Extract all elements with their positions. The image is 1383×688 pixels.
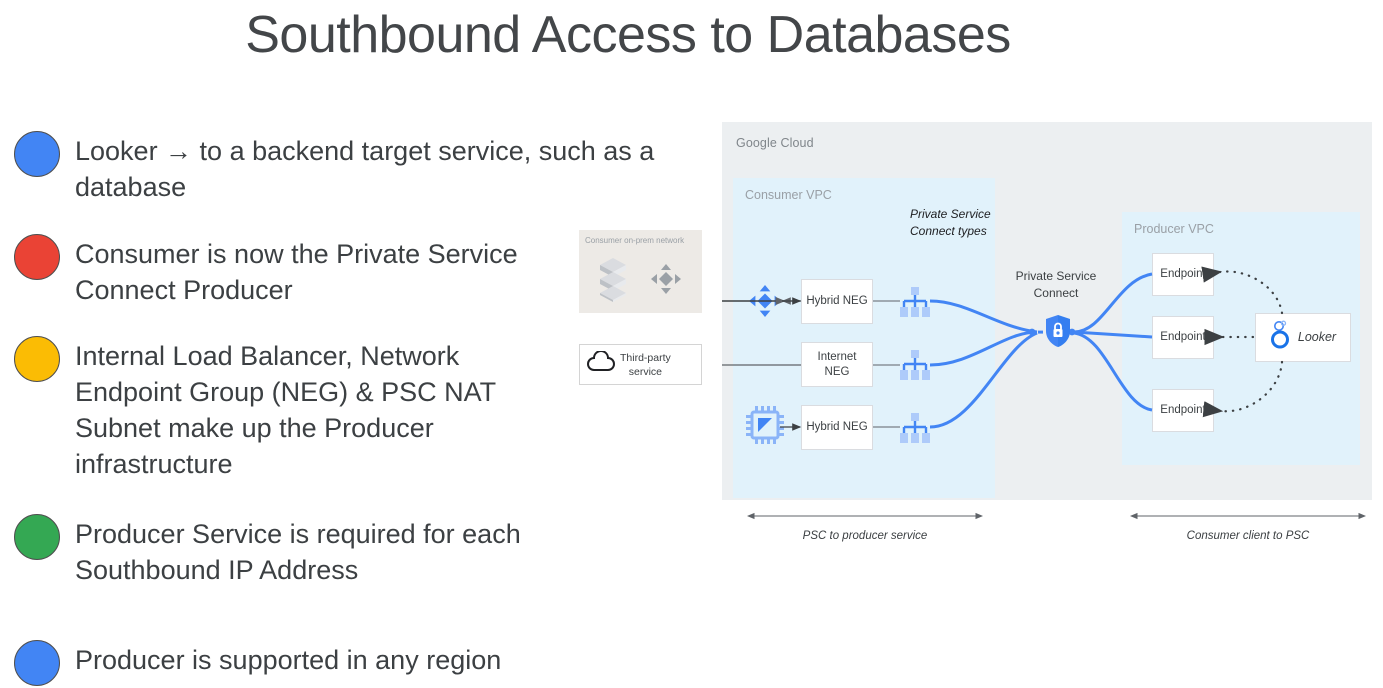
bullet-item-4: Producer is supported in any region xyxy=(14,640,634,686)
endpoint-box-2[interactable]: Endpoint xyxy=(1152,316,1214,359)
vpn-gateway-icon-grey xyxy=(651,264,681,299)
bullet-text-2: Internal Load Balancer, Network Endpoint… xyxy=(75,336,554,482)
bullet-item-1: Consumer is now the Private Service Conn… xyxy=(14,234,614,308)
third-party-service-box: Third-party service xyxy=(579,344,702,385)
psc-center-label: Private Service Connect xyxy=(996,268,1116,302)
endpoint-label-2: Endpoint xyxy=(1160,403,1205,418)
endpoint-label-0: Endpoint xyxy=(1160,267,1205,282)
psc-types-label: Private Service Connect types xyxy=(910,206,991,240)
neg-box-hybrid-2[interactable]: Hybrid NEG xyxy=(801,405,873,450)
bullet-marker-red xyxy=(14,234,60,280)
psc-types-line2: Connect types xyxy=(910,223,991,240)
neg-label-1-line2: NEG xyxy=(825,365,850,380)
range-label-consumer-to-psc: Consumer client to PSC xyxy=(1131,530,1365,542)
third-party-line2: service xyxy=(620,365,671,379)
third-party-line1: Third-party xyxy=(620,351,671,365)
bullet-text-4: Producer is supported in any region xyxy=(75,640,501,678)
endpoint-label-1: Endpoint xyxy=(1160,330,1205,345)
vpn-gateway-icon xyxy=(749,285,781,322)
neg-label-1-line1: Internet xyxy=(818,350,857,365)
chip-icon xyxy=(746,406,784,449)
consumer-onprem-network-label: Consumer on-prem network xyxy=(585,236,684,245)
load-balancer-icon-2 xyxy=(900,350,930,385)
range-label-psc-to-producer: PSC to producer service xyxy=(748,530,982,542)
looker-box[interactable]: Looker xyxy=(1255,313,1351,362)
endpoint-box-1[interactable]: Endpoint xyxy=(1152,253,1214,296)
psc-center-line2: Connect xyxy=(996,285,1116,302)
neg-label-2: Hybrid NEG xyxy=(806,420,867,435)
neg-box-internet[interactable]: Internet NEG xyxy=(801,342,873,387)
bullet-text-0: Looker → to a backend target service, su… xyxy=(75,131,704,205)
page-title: Southbound Access to Databases xyxy=(0,4,1256,66)
endpoint-box-3[interactable]: Endpoint xyxy=(1152,389,1214,432)
psc-types-line1: Private Service xyxy=(910,206,991,223)
bullet-marker-green xyxy=(14,514,60,560)
neg-label-0: Hybrid NEG xyxy=(806,294,867,309)
consumer-onprem-network-box: Consumer on-prem network xyxy=(579,230,702,313)
load-balancer-icon-1 xyxy=(900,287,930,322)
psc-center-line1: Private Service xyxy=(996,268,1116,285)
private-service-connect-shield-lock-icon xyxy=(1044,314,1072,353)
bullet-text-1: Consumer is now the Private Service Conn… xyxy=(75,234,614,308)
looker-label: Looker xyxy=(1298,330,1336,345)
google-cloud-label: Google Cloud xyxy=(736,136,814,150)
bullet-marker-blue xyxy=(14,131,60,177)
consumer-vpc-label: Consumer VPC xyxy=(745,188,832,202)
cloud-icon xyxy=(586,351,616,378)
bullet-text-3: Producer Service is required for each So… xyxy=(75,514,624,588)
slide-root: Southbound Access to Databases Looker → … xyxy=(0,0,1383,688)
producer-vpc-label: Producer VPC xyxy=(1134,222,1214,236)
bullet-marker-yellow xyxy=(14,336,60,382)
stacked-servers-icon xyxy=(597,256,629,307)
looker-logo-icon xyxy=(1270,320,1292,355)
bullet-item-0: Looker → to a backend target service, su… xyxy=(14,131,704,205)
bullet-marker-blue-2 xyxy=(14,640,60,686)
bullet-item-2: Internal Load Balancer, Network Endpoint… xyxy=(14,336,554,482)
third-party-service-label: Third-party service xyxy=(620,351,671,379)
load-balancer-icon-3 xyxy=(900,413,930,448)
bullet-item-3: Producer Service is required for each So… xyxy=(14,514,624,588)
neg-box-hybrid-1[interactable]: Hybrid NEG xyxy=(801,279,873,324)
architecture-diagram: Google Cloud Consumer VPC Producer VPC P… xyxy=(722,122,1372,553)
